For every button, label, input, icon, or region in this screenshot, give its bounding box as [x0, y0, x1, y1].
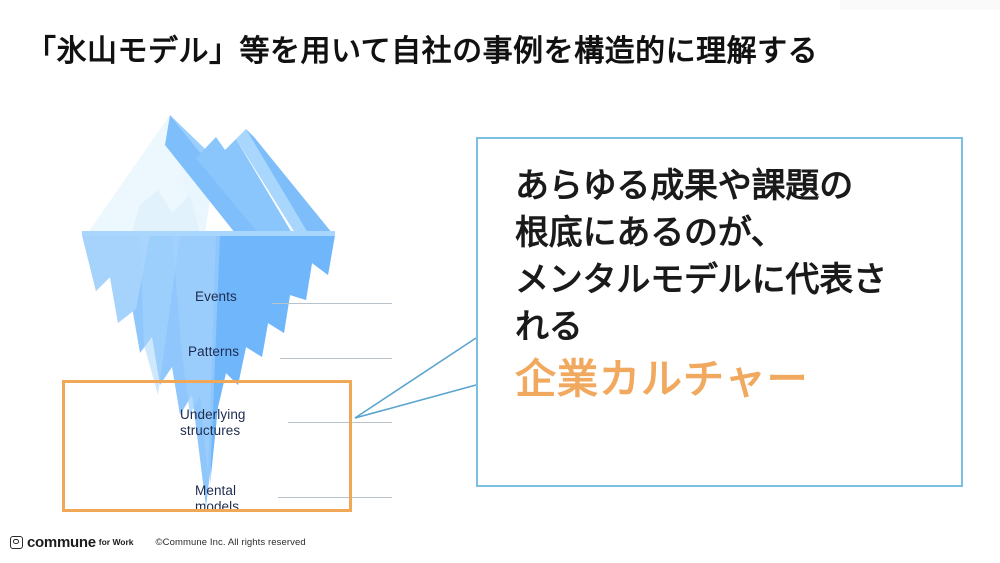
waterline: [82, 231, 335, 236]
callout-box: あらゆる成果や課題の 根底にあるのが、 メンタルモデルに代表さ れる 企業カルチ…: [476, 137, 963, 487]
slide-canvas: 「氷山モデル」等を用いて自社の事例を構造的に理解する: [0, 0, 1000, 563]
callout-line-3: メンタルモデルに代表さ: [515, 257, 945, 304]
leader-line-events: [272, 303, 392, 304]
layer-label-events: Events: [195, 289, 237, 305]
top-edge-strip: [840, 0, 1000, 10]
commune-logo-icon: [10, 536, 23, 549]
callout-line-4: れる: [515, 304, 945, 351]
footer: commune for Work ©Commune Inc. All right…: [10, 533, 306, 551]
callout-emphasis-text: 企業カルチャー: [515, 351, 945, 407]
commune-logo-subtitle: for Work: [99, 537, 134, 547]
callout-line-1: あらゆる成果や課題の: [515, 163, 945, 210]
mental-models-highlight-box: [62, 380, 352, 512]
leader-line-patterns: [280, 358, 392, 359]
callout-line-2: 根底にあるのが、: [515, 210, 945, 257]
page-title: 「氷山モデル」等を用いて自社の事例を構造的に理解する: [26, 26, 926, 70]
callout-text: あらゆる成果や課題の 根底にあるのが、 メンタルモデルに代表さ れる 企業カルチ…: [515, 163, 945, 407]
commune-logo-wordmark: commune: [27, 534, 96, 551]
layer-label-patterns: Patterns: [188, 344, 239, 360]
copyright-text: ©Commune Inc. All rights reserved: [156, 537, 306, 548]
